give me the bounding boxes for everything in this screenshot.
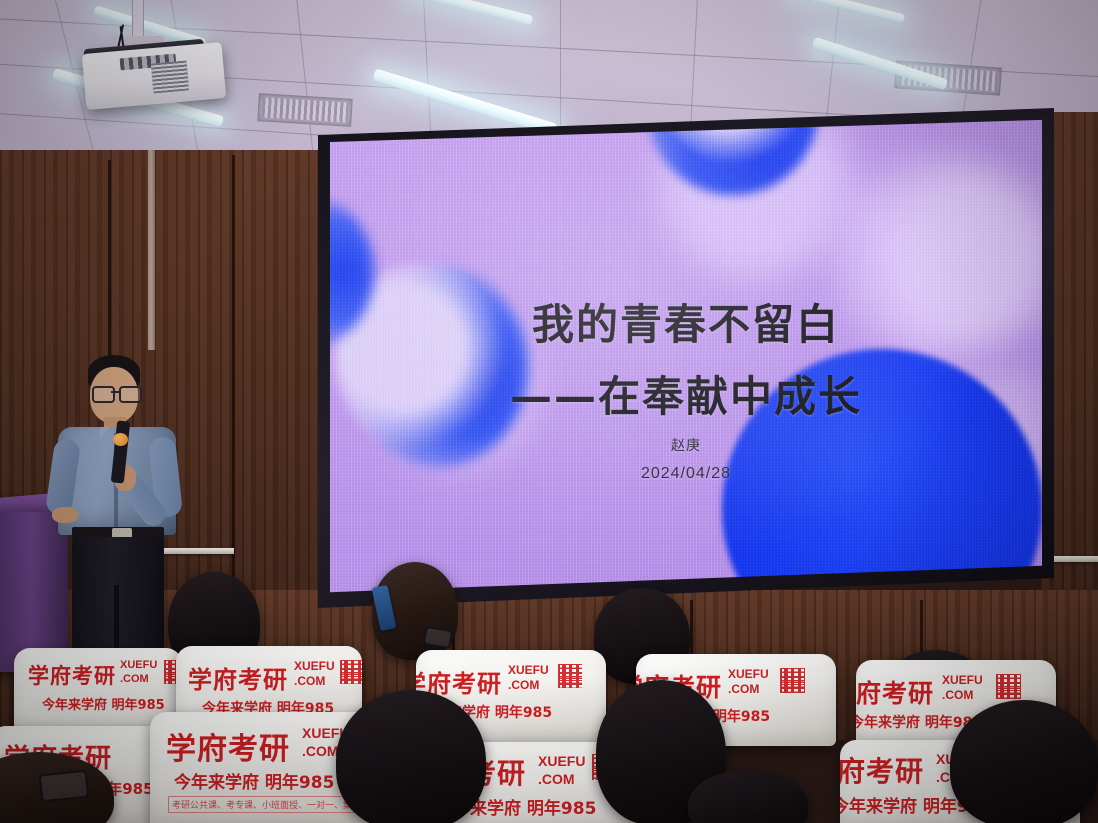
chair-fine-print: 考研公共课、考专课、小班面授、一对一、集训 bbox=[168, 796, 366, 813]
chair-brand-cn: 学府考研 bbox=[856, 674, 934, 710]
speaker-glasses-icon bbox=[92, 386, 138, 400]
qr-code-icon bbox=[340, 660, 362, 684]
audience-glasses-icon bbox=[39, 770, 90, 803]
slide-author: 赵庚 bbox=[330, 435, 1042, 455]
audience-head bbox=[336, 690, 486, 823]
audience-head bbox=[950, 700, 1098, 823]
chair-brand-latin: XUEFU bbox=[294, 660, 335, 672]
chair-brand-domain: .COM bbox=[942, 689, 973, 701]
presentation-photo-scene: 我的青春不留白 ——在奉献中成长 赵庚 2024/04/28 bbox=[0, 0, 1098, 823]
chair-brand-domain: .COM bbox=[294, 675, 325, 687]
slide-date: 2024/04/28 bbox=[330, 465, 1042, 483]
qr-code-icon bbox=[996, 674, 1021, 699]
speaker-hand-podium bbox=[52, 507, 78, 523]
chair-brand-domain: .COM bbox=[302, 744, 339, 758]
microphone-head bbox=[113, 433, 128, 446]
qr-code-icon bbox=[558, 664, 582, 688]
chair-brand-domain: .COM bbox=[538, 772, 575, 786]
chair-brand-domain: .COM bbox=[508, 679, 539, 691]
led-screen: 我的青春不留白 ——在奉献中成长 赵庚 2024/04/28 bbox=[330, 117, 1042, 597]
chair-slogan: 今年来学府 明年985 bbox=[42, 694, 165, 713]
chair-brand-latin: XUEFU bbox=[120, 660, 157, 671]
chair-brand-cn: 学府考研 bbox=[188, 660, 288, 695]
slide-title-line1: 我的青春不留白 bbox=[330, 291, 1042, 352]
chair-brand-cn: 学府考研 bbox=[840, 750, 924, 790]
chair-brand-latin: XUEFU bbox=[942, 674, 983, 686]
fluorescent-light bbox=[372, 68, 557, 135]
ceiling-projector bbox=[60, 0, 260, 110]
chair-brand-latin: XUEFU bbox=[728, 668, 769, 680]
chair-brand-domain: .COM bbox=[728, 683, 759, 695]
chair-brand-domain: .COM bbox=[120, 674, 149, 685]
chair-brand-latin: XUEFU bbox=[508, 664, 549, 676]
chair-brand-latin: XUEFU bbox=[538, 754, 585, 768]
chair-brand-cn: 学府考研 bbox=[166, 724, 290, 768]
chair-slogan: 今年来学府 明年985 bbox=[174, 768, 334, 793]
chair-brand-cn: 学府考研 bbox=[28, 660, 116, 690]
slide-title-line2: ——在奉献中成长 bbox=[330, 363, 1042, 424]
air-vent-icon bbox=[257, 93, 353, 127]
fluorescent-light bbox=[787, 0, 906, 23]
qr-code-icon bbox=[780, 668, 805, 693]
